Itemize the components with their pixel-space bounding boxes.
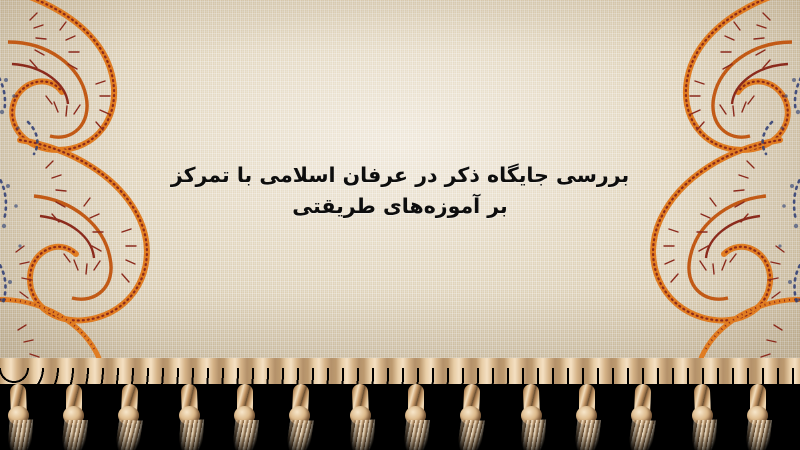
title-line-2: بر آموزه‌های طریقتی <box>140 191 660 222</box>
slide-canvas: بررسی جایگاه ذکر در عرفان اسلامی با تمرک… <box>0 0 800 450</box>
lower-black-panel <box>0 376 800 450</box>
title-line-1: بررسی جایگاه ذکر در عرفان اسلامی با تمرک… <box>140 160 660 191</box>
fringe-edge-band <box>0 358 800 384</box>
slide-title: بررسی جایگاه ذکر در عرفان اسلامی با تمرک… <box>140 160 660 222</box>
